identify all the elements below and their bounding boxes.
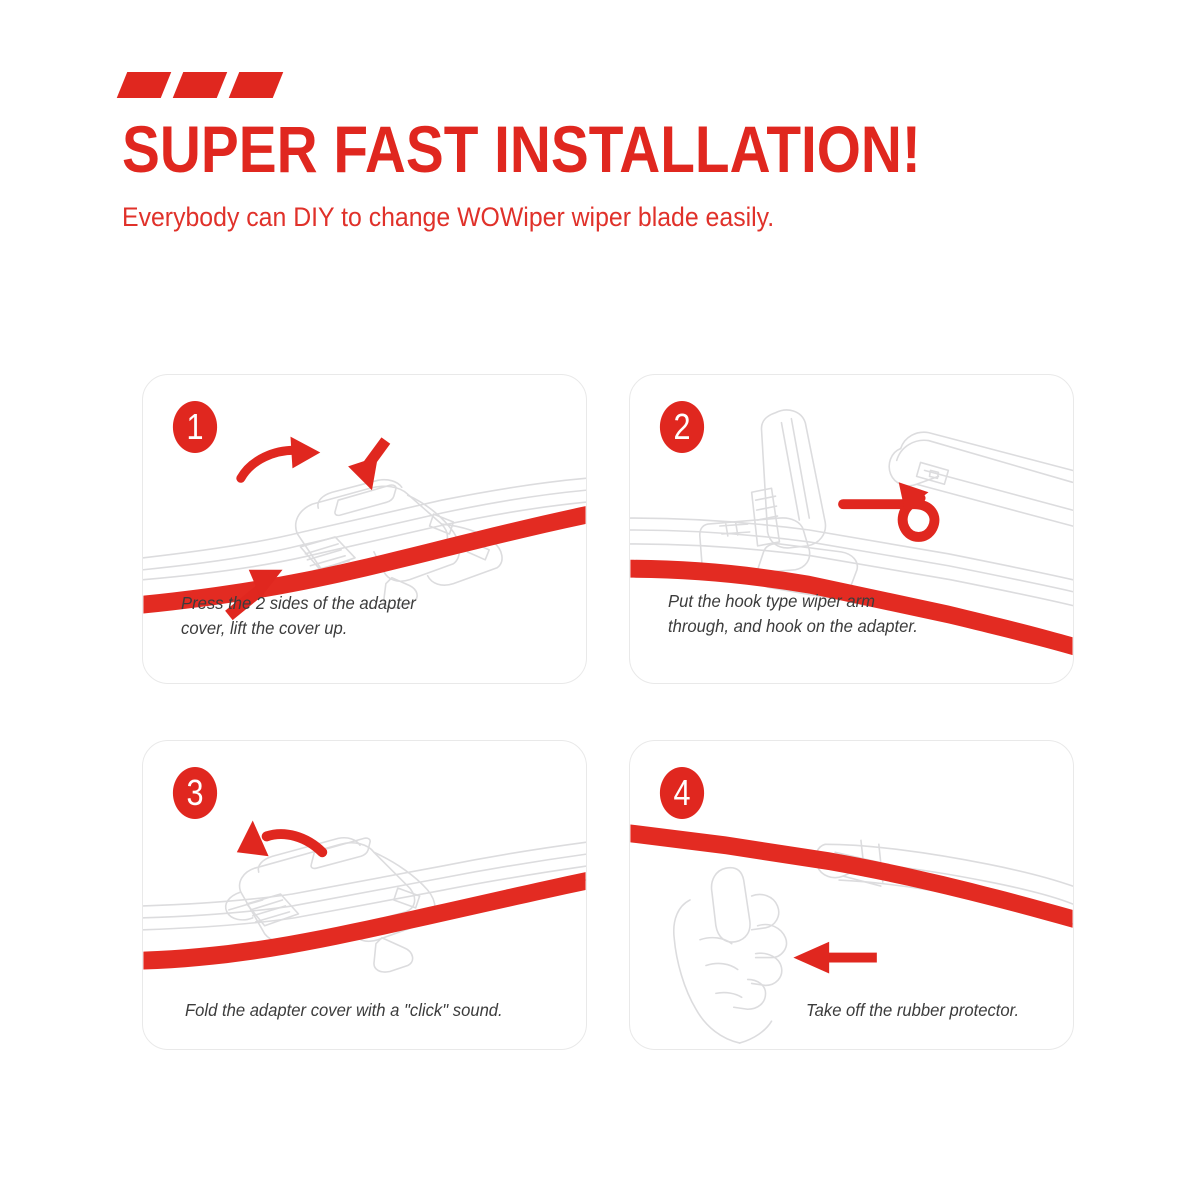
step-caption: Fold the adapter cover with a "click" so…: [185, 998, 547, 1023]
down-arrow-icon: [348, 441, 386, 491]
page-header: SUPER FAST INSTALLATION! Everybody can D…: [122, 72, 1082, 234]
steps-grid: 1: [142, 374, 1074, 1050]
step-caption-line-1: Fold the adapter cover with a "click" so…: [185, 998, 547, 1023]
step-number-badge: 3: [173, 767, 217, 819]
step-caption: Put the hook type wiper arm through, and…: [668, 589, 1034, 639]
step-caption-line-2: cover, lift the cover up.: [181, 616, 547, 641]
slash-mark-icon: [173, 72, 228, 98]
rubber-strip-icon: [143, 872, 585, 969]
step-card-3: 3: [142, 740, 587, 1050]
page-subtitle: Everybody can DIY to change WOWiper wipe…: [122, 200, 1005, 234]
step-card-4: 4: [629, 740, 1074, 1050]
step-caption-line-1: Put the hook type wiper arm: [668, 589, 1034, 614]
curved-arrow-icon: [241, 437, 320, 479]
step-number-badge: 4: [660, 767, 704, 819]
hook-arrow-icon: [843, 482, 934, 537]
step-card-2: 2: [629, 374, 1074, 684]
curved-arrow-icon: [237, 820, 322, 856]
page-title: SUPER FAST INSTALLATION!: [122, 114, 948, 184]
step-caption: Press the 2 sides of the adapter cover, …: [181, 591, 547, 641]
rubber-strip-icon: [630, 824, 1072, 927]
step-caption-line-1: Press the 2 sides of the adapter: [181, 591, 547, 616]
step-caption-line-2: through, and hook on the adapter.: [668, 614, 1034, 639]
step-number-badge: 1: [173, 401, 217, 453]
left-arrow-icon: [793, 942, 876, 974]
step-card-1: 1: [142, 374, 587, 684]
step-caption: Take off the rubber protector.: [806, 998, 1041, 1023]
step-number-badge: 2: [660, 401, 704, 453]
slash-mark-icon: [229, 72, 284, 98]
decorative-slash-group: [122, 72, 1082, 98]
step-caption-line-1: Take off the rubber protector.: [806, 998, 1041, 1023]
slash-mark-icon: [117, 72, 172, 98]
